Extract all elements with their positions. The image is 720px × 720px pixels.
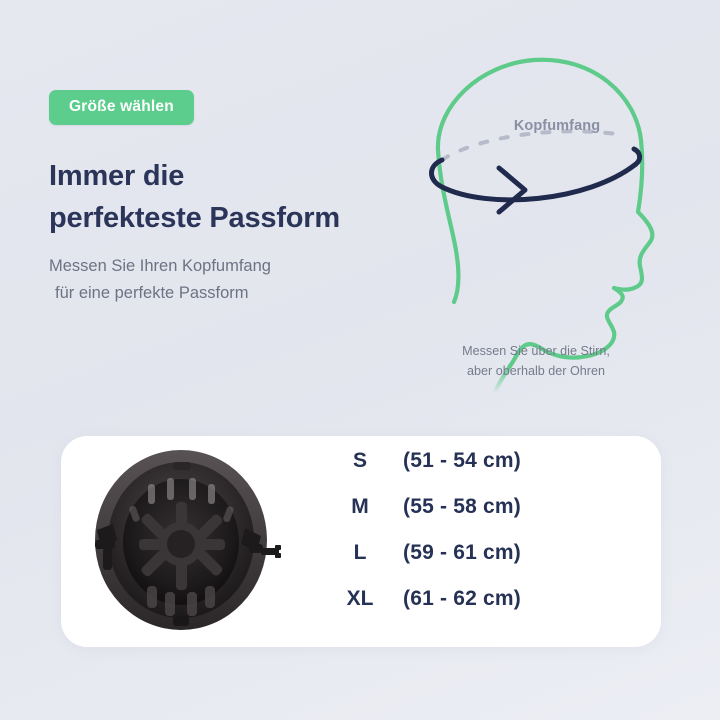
tape-direction-arrow-icon xyxy=(499,168,525,212)
size-range: (55 - 58 cm) xyxy=(391,495,521,519)
helmet-bottom-clip xyxy=(173,616,189,626)
headline-line-2: perfekteste Passform xyxy=(49,197,399,240)
tape-label: Kopfumfang xyxy=(497,118,617,134)
size-row[interactable]: XL (61 - 62 cm) xyxy=(329,587,649,633)
measuring-tape-dashed-back xyxy=(442,131,616,160)
size-range: (59 - 61 cm) xyxy=(391,541,521,565)
size-range: (61 - 62 cm) xyxy=(391,587,521,611)
measuring-tape-solid-front xyxy=(432,149,640,200)
size-row[interactable]: L (59 - 61 cm) xyxy=(329,541,649,587)
size-letter: L xyxy=(329,541,391,565)
head-profile-outline xyxy=(438,60,652,366)
size-list: S (51 - 54 cm) M (55 - 58 cm) L (59 - 61… xyxy=(329,449,649,633)
size-letter: XL xyxy=(329,587,391,611)
helmet-product-image xyxy=(73,444,313,640)
helmet-top-clip xyxy=(173,462,191,470)
promo-text-block: Größe wählen Immer die perfekteste Passf… xyxy=(49,90,399,307)
page-subtitle: Messen Sie Ihren Kopfumfang für eine per… xyxy=(49,253,399,306)
size-letter: S xyxy=(329,449,391,473)
size-row[interactable]: M (55 - 58 cm) xyxy=(329,495,649,541)
subtitle-line-1: Messen Sie Ihren Kopfumfang xyxy=(49,257,271,275)
caption-line-1: Messen Sie über die Stirn, xyxy=(462,344,610,358)
subtitle-line-2: für eine perfekte Passform xyxy=(49,280,399,307)
size-row[interactable]: S (51 - 54 cm) xyxy=(329,449,649,495)
size-select-badge[interactable]: Größe wählen xyxy=(49,90,194,125)
caption-line-2: aber oberhalb der Ohren xyxy=(430,362,642,382)
helmet-center-hub xyxy=(167,530,195,558)
headline-line-1: Immer die xyxy=(49,160,184,192)
diagram-caption: Messen Sie über die Stirn, aber oberhalb… xyxy=(430,342,642,381)
size-letter: M xyxy=(329,495,391,519)
page-background: Größe wählen Immer die perfekteste Passf… xyxy=(0,0,720,720)
size-chart-card: S (51 - 54 cm) M (55 - 58 cm) L (59 - 61… xyxy=(61,436,661,647)
size-range: (51 - 54 cm) xyxy=(391,449,521,473)
page-title: Immer die perfekteste Passform xyxy=(49,155,399,241)
